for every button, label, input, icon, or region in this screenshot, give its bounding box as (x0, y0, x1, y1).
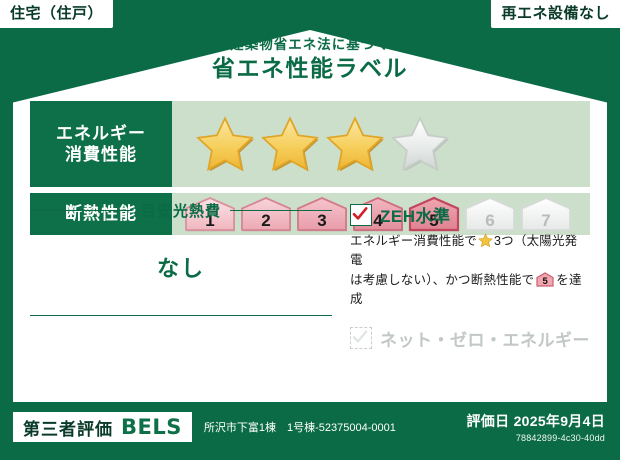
heading-rule-left (30, 210, 132, 211)
renewable-equipment-tag: 再エネ設備なし (491, 0, 620, 28)
utility-cost-value: なし (30, 251, 332, 283)
bels-logo-text: BELS (121, 415, 182, 439)
lower-section: 目安光熱費 なし ZEH水準 エネルギー消費性能で 3つ（太陽光発電 は考 (30, 196, 590, 351)
row-energy-performance: エネルギー 消費性能 (30, 101, 590, 187)
label-footer: 第三者評価 BELS 所沢市下富1棟 1号棟-52375004-0001 評価日… (13, 407, 607, 447)
certificate-id: 78842899-4c30-40dd (466, 433, 605, 443)
third-party-evaluation-label: 第三者評価 (23, 415, 113, 440)
utility-cost-heading-text: 目安光熱費 (132, 200, 230, 221)
zeh-standard-description: エネルギー消費性能で 3つ（太陽光発電 は考慮しない）、かつ断熱性能で 5 を達… (350, 232, 590, 310)
energy-label-line2: 消費性能 (65, 144, 137, 165)
energy-performance-label: エネルギー 消費性能 (30, 101, 172, 187)
star-icon-filled (259, 114, 321, 174)
zeh-desc-part3: は考慮しない）、かつ断熱性能で (350, 273, 534, 287)
utility-cost-bottom-rule (30, 315, 332, 316)
star-icon-filled (194, 114, 256, 174)
zeh-standard-row: ZEH水準 (350, 202, 590, 227)
building-type-tag: 住宅（住戸） (0, 0, 113, 28)
unchecked-box-icon (350, 327, 372, 349)
zeh-panel: ZEH水準 エネルギー消費性能で 3つ（太陽光発電 は考慮しない）、かつ断熱性能… (332, 196, 590, 351)
star-rating (194, 114, 451, 174)
star-icon-empty (389, 114, 451, 174)
footer-meta: 評価日 2025年9月4日 78842899-4c30-40dd (466, 411, 607, 443)
property-address: 所沢市下富1棟 1号棟-52375004-0001 (204, 419, 396, 435)
inline-badge-number: 5 (536, 277, 554, 287)
heading-rule-right (230, 210, 332, 211)
zeh-desc-part1: エネルギー消費性能で (350, 234, 477, 248)
evaluation-date: 評価日 2025年9月4日 (466, 411, 605, 431)
utility-cost-heading: 目安光熱費 (30, 200, 332, 221)
title-subtitle: 建築物省エネ法に基づく (0, 38, 620, 53)
net-zero-energy-row: ネット・ゼロ・エネルギー (350, 326, 590, 351)
inline-insulation-badge: 5 (536, 272, 554, 287)
check-icon (350, 204, 372, 226)
energy-label-line1: エネルギー (56, 123, 146, 144)
page-title: 省エネ性能ラベル (0, 56, 620, 81)
star-icon (478, 233, 493, 248)
star-icon-filled (324, 114, 386, 174)
label-title-block: 建築物省エネ法に基づく 省エネ性能ラベル (0, 38, 620, 81)
bels-certification-badge: 第三者評価 BELS (13, 412, 192, 442)
net-zero-energy-label: ネット・ゼロ・エネルギー (380, 326, 590, 351)
energy-performance-value (172, 101, 590, 187)
zeh-standard-label: ZEH水準 (380, 202, 451, 227)
utility-cost-panel: 目安光熱費 なし (30, 196, 332, 351)
bels-energy-label: 住宅（住戸） 再エネ設備なし 建築物省エネ法に基づく 省エネ性能ラベル エネルギ… (0, 0, 620, 460)
